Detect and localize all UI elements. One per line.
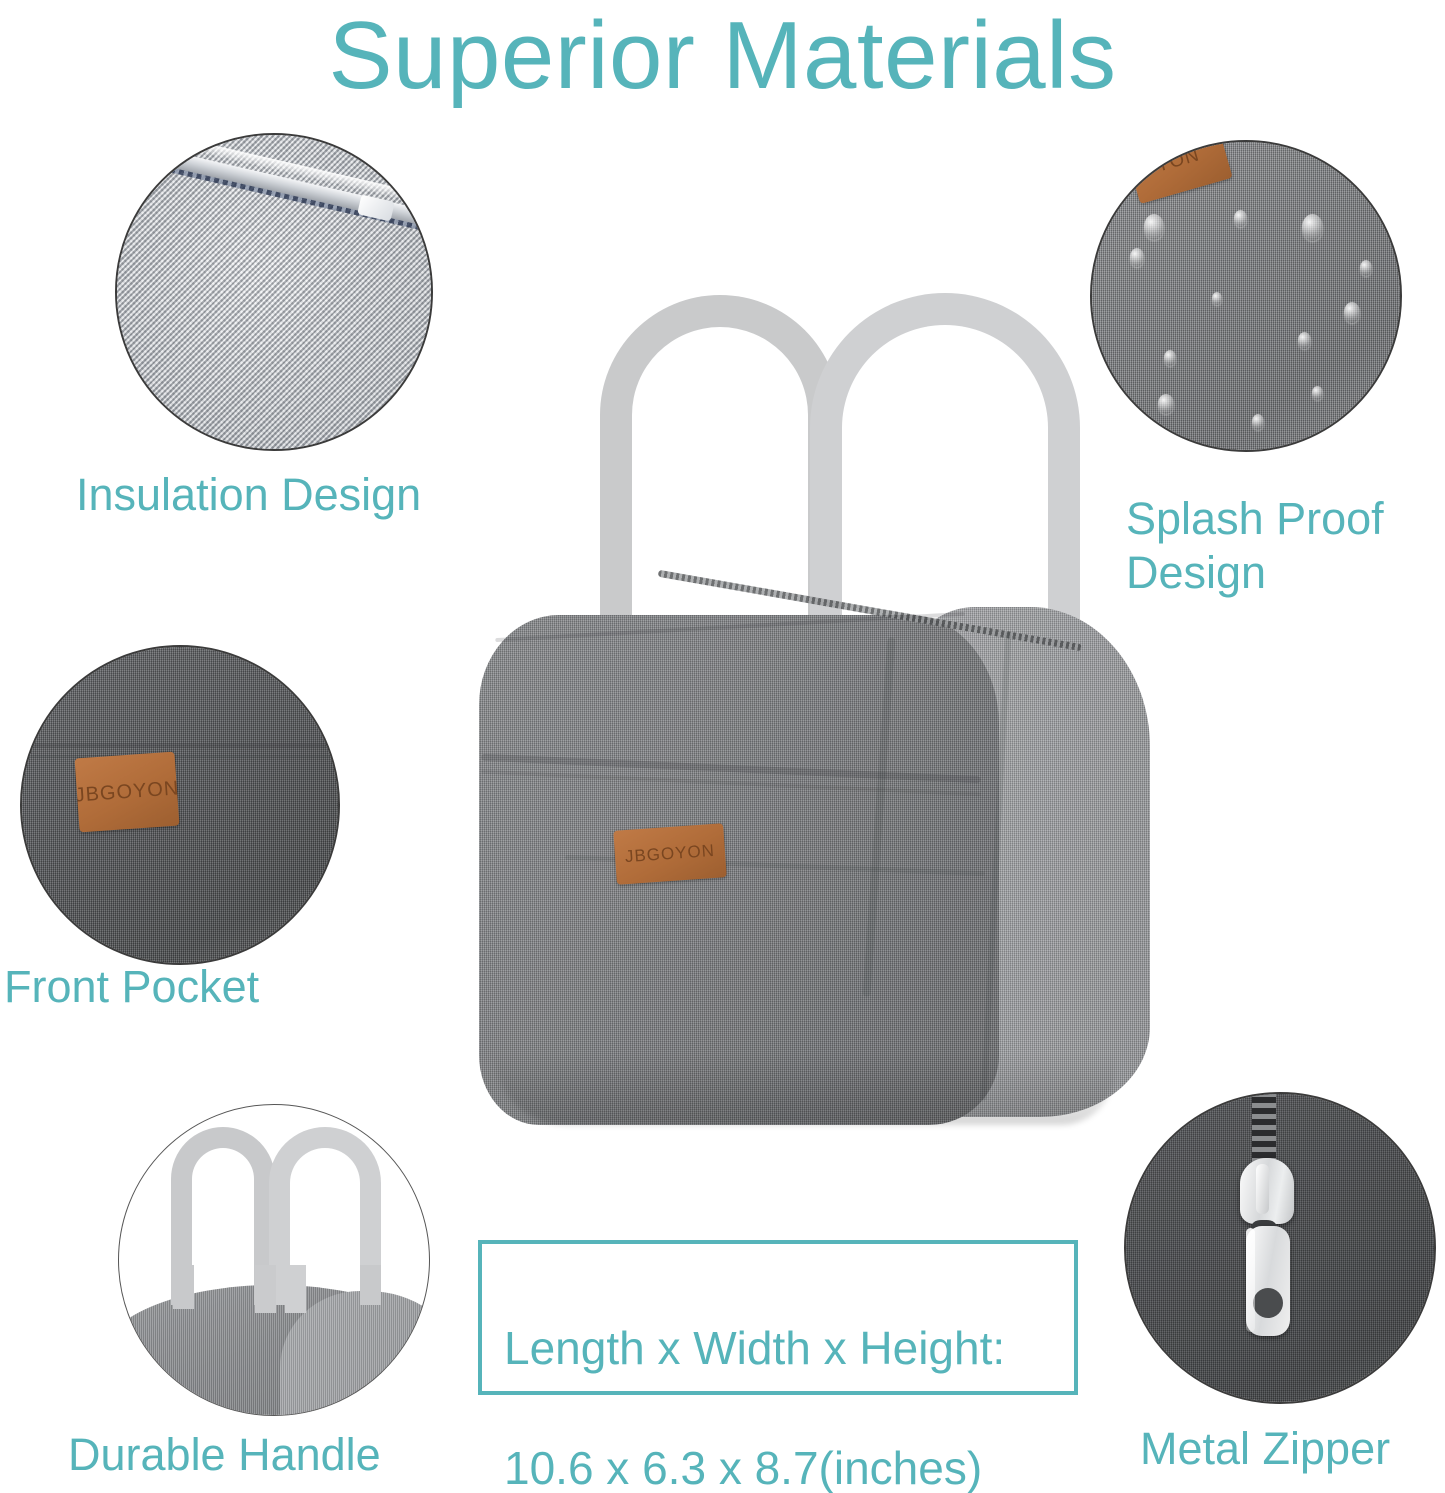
dimensions-line-1: Length x Width x Height: <box>504 1318 1052 1378</box>
brand-tag: JBGOYON <box>75 752 180 833</box>
callout-durable-handle-label: Durable Handle <box>68 1428 488 1482</box>
product-image-insulated-lunch-bag: JBGOYON <box>455 285 1165 1185</box>
brand-tag-partial-text: YON <box>1154 144 1203 177</box>
brand-tag: JBGOYON <box>613 823 726 885</box>
dimensions-line-2: 10.6 x 6.3 x 8.7(inches) <box>504 1438 1052 1493</box>
brand-tag-text: JBGOYON <box>75 777 180 807</box>
metal-zipper-pull-photo <box>1124 1092 1436 1404</box>
bag-handles-photo <box>118 1104 430 1416</box>
page-title: Superior Materials <box>0 4 1445 108</box>
callout-insulation-label: Insulation Design <box>76 468 516 522</box>
product-infographic: Superior Materials Insulation Design YON <box>0 0 1445 1493</box>
callout-metal-zipper-label: Metal Zipper <box>1140 1422 1440 1476</box>
dimensions-box: Length x Width x Height: 10.6 x 6.3 x 8.… <box>478 1240 1078 1395</box>
callout-front-pocket-label: Front Pocket <box>4 960 334 1014</box>
brand-tag-text: JBGOYON <box>624 841 715 867</box>
insulation-foil-lining-photo <box>115 133 433 451</box>
callout-splash-proof-label: Splash Proof Design <box>1126 492 1445 600</box>
front-pocket-leather-tag-photo: JBGOYON <box>20 645 340 965</box>
